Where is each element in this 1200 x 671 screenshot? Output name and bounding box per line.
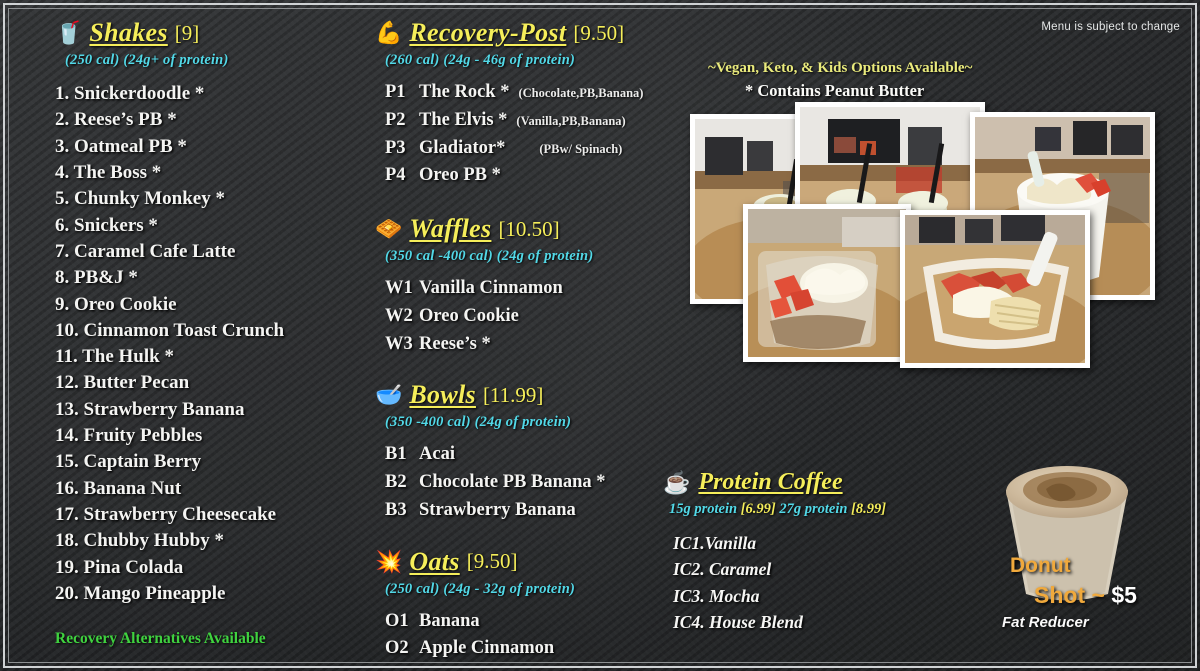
list-item: 10. Cinnamon Toast Crunch	[55, 318, 385, 344]
item-code: B3	[385, 497, 419, 525]
list-item: 17. Strawberry Cheesecake	[55, 502, 385, 528]
item-code: P3	[385, 135, 419, 163]
list-item: B2 Chocolate PB Banana *	[385, 469, 675, 497]
oats-title: Oats	[409, 547, 459, 577]
protein-coffee-title: Protein Coffee	[698, 469, 842, 496]
menu-board: 🥤 Shakes [9] (250 cal) (24g+ of protein)…	[0, 0, 1200, 671]
item-name: Vanilla Cinnamon	[419, 275, 563, 303]
item-name: The Elvis *	[419, 107, 507, 135]
list-item: 4. The Boss *	[55, 160, 385, 186]
item-name: The Rock *	[419, 79, 509, 107]
shakes-list: 1. Snickerdoodle * 2. Reese’s PB * 3. Oa…	[55, 81, 385, 607]
oats-list: O1 Banana O2 Apple Cinnamon	[375, 608, 675, 664]
oats-heading: 💥 Oats [9.50]	[375, 547, 675, 577]
list-item: IC1.Vanilla	[673, 530, 993, 556]
donut-shot-promo: Donut Shot ~ $5 Fat Reducer	[962, 454, 1177, 649]
item-name: Oreo PB *	[419, 162, 501, 190]
coffee-cup-icon: ☕	[663, 472, 690, 494]
item-code: W2	[385, 303, 419, 331]
item-code: W3	[385, 331, 419, 359]
item-name: Reese’s *	[419, 331, 491, 359]
list-item: 11. The Hulk *	[55, 344, 385, 370]
list-item: W2 Oreo Cookie	[385, 303, 675, 331]
protein-coffee-section: ☕ Protein Coffee 15g protein [6.99] 27g …	[663, 469, 993, 635]
list-item: W3 Reese’s *	[385, 331, 675, 359]
item-note: (Vanilla,PB,Banana)	[516, 112, 625, 131]
item-name: Acai	[419, 441, 455, 469]
bowls-price: [11.99]	[483, 383, 543, 408]
item-code: B1	[385, 441, 419, 469]
shakes-heading: 🥤 Shakes [9]	[55, 18, 385, 48]
item-code: P4	[385, 162, 419, 190]
list-item: 14. Fruity Pebbles	[55, 423, 385, 449]
list-item: B1 Acai	[385, 441, 675, 469]
list-item: IC3. Mocha	[673, 583, 993, 609]
item-note: (PBw/ Spinach)	[539, 140, 622, 159]
sparkle-star-icon: 💥	[375, 551, 402, 573]
shakes-title: Shakes	[89, 18, 167, 48]
list-item: 5. Chunky Monkey *	[55, 186, 385, 212]
item-code: P2	[385, 107, 419, 135]
list-item: 6. Snickers *	[55, 213, 385, 239]
list-item: O1 Banana	[385, 608, 675, 636]
list-item: W1 Vanilla Cinnamon	[385, 275, 675, 303]
photo-bowl-strawberry	[743, 204, 911, 362]
oats-price: [9.50]	[467, 549, 518, 574]
donut-shot-line1: Donut	[1010, 554, 1071, 578]
cup-with-straw-icon: 🥤	[55, 22, 82, 44]
item-name: Oreo Cookie	[419, 303, 519, 331]
waffles-heading: 🧇 Waffles [10.50]	[375, 214, 675, 244]
item-name: Banana	[419, 608, 480, 636]
oats-subtitle: (250 cal) (24g - 32g of protein)	[385, 581, 675, 598]
list-item: 20. Mango Pineapple	[55, 581, 385, 607]
recovery-heading: 💪 Recovery-Post [9.50]	[375, 18, 675, 48]
list-item: O2 Apple Cinnamon	[385, 635, 675, 663]
waffle-icon: 🧇	[375, 218, 402, 240]
list-item: 12. Butter Pecan	[55, 370, 385, 396]
photo-waffle-banana	[900, 210, 1090, 368]
bowls-subtitle: (350 -400 cal) (24g of protein)	[385, 414, 675, 431]
list-item: 7. Caramel Cafe Latte	[55, 239, 385, 265]
list-item: IC4. House Blend	[673, 609, 993, 635]
list-item: 8. PB&J *	[55, 265, 385, 291]
waffles-price: [10.50]	[498, 217, 559, 242]
bowls-title: Bowls	[409, 380, 476, 410]
list-item: 15. Captain Berry	[55, 449, 385, 475]
item-name: Strawberry Banana	[419, 497, 576, 525]
item-code: O1	[385, 608, 419, 636]
list-item: 1. Snickerdoodle *	[55, 81, 385, 107]
item-code: B2	[385, 469, 419, 497]
list-item: P4 Oreo PB *	[385, 162, 675, 190]
photo-waffle-banana-image	[905, 215, 1085, 363]
item-name: Chocolate PB Banana *	[419, 469, 606, 497]
recovery-title: Recovery-Post	[409, 18, 566, 48]
bowls-list: B1 Acai B2 Chocolate PB Banana * B3 Stra…	[375, 441, 675, 524]
waffles-title: Waffles	[409, 214, 491, 244]
bowls-heading: 🥣 Bowls [11.99]	[375, 380, 675, 410]
list-item: 19. Pina Colada	[55, 555, 385, 581]
shakes-price: [9]	[175, 21, 200, 46]
protein-coffee-heading: ☕ Protein Coffee	[663, 469, 993, 496]
coffee-price-low: [6.99]	[741, 501, 776, 517]
list-item: P3 Gladiator* (PBw/ Spinach)	[385, 135, 675, 163]
item-code: P1	[385, 79, 419, 107]
coffee-price-high: [8.99]	[851, 501, 886, 517]
coffee-price-high-label: 27g protein	[779, 501, 847, 517]
waffles-subtitle: (350 cal -400 cal) (24g of protein)	[385, 248, 675, 265]
donut-shot-line2: Shot ~ $5	[1034, 582, 1137, 609]
donut-shot-text: Shot ~	[1034, 582, 1111, 608]
bowl-with-spoon-icon: 🥣	[375, 384, 402, 406]
donut-shot-subtitle: Fat Reducer	[1002, 614, 1089, 631]
photo-bowl-strawberry-image	[748, 209, 906, 357]
coffee-price-low-label: 15g protein	[669, 501, 737, 517]
shakes-subtitle: (250 cal) (24g+ of protein)	[65, 52, 385, 69]
list-item: 13. Strawberry Banana	[55, 397, 385, 423]
list-item: 18. Chubby Hubby *	[55, 528, 385, 554]
list-item: P1 The Rock * (Chocolate,PB,Banana)	[385, 79, 675, 107]
waffles-list: W1 Vanilla Cinnamon W2 Oreo Cookie W3 Re…	[375, 275, 675, 358]
list-item: 9. Oreo Cookie	[55, 292, 385, 318]
list-item: P2 The Elvis * (Vanilla,PB,Banana)	[385, 107, 675, 135]
recovery-subtitle: (260 cal) (24g - 46g of protein)	[385, 52, 675, 69]
list-item: 3. Oatmeal PB *	[55, 134, 385, 160]
item-name: Gladiator*	[419, 135, 505, 163]
recovery-list: P1 The Rock * (Chocolate,PB,Banana) P2 T…	[375, 79, 675, 190]
protein-coffee-list: IC1.Vanilla IC2. Caramel IC3. Mocha IC4.…	[673, 530, 993, 635]
list-item: B3 Strawberry Banana	[385, 497, 675, 525]
item-code: O2	[385, 635, 419, 663]
photo-collage	[655, 14, 1195, 454]
list-item: IC2. Caramel	[673, 556, 993, 582]
middle-column: 💪 Recovery-Post [9.50] (260 cal) (24g - …	[375, 18, 675, 663]
donut-shot-price: $5	[1111, 582, 1137, 608]
protein-coffee-prices: 15g protein [6.99] 27g protein [8.99]	[669, 501, 993, 518]
list-item: 2. Reese’s PB *	[55, 107, 385, 133]
right-column: ☕ Protein Coffee 15g protein [6.99] 27g …	[655, 14, 1195, 659]
recovery-price: [9.50]	[573, 21, 624, 46]
flexed-biceps-icon: 💪	[375, 22, 402, 44]
item-name: Apple Cinnamon	[419, 635, 554, 663]
list-item: 16. Banana Nut	[55, 476, 385, 502]
recovery-alternatives-note: Recovery Alternatives Available	[55, 630, 266, 648]
item-code: W1	[385, 275, 419, 303]
shakes-column: 🥤 Shakes [9] (250 cal) (24g+ of protein)…	[55, 18, 385, 607]
item-note: (Chocolate,PB,Banana)	[518, 84, 643, 103]
